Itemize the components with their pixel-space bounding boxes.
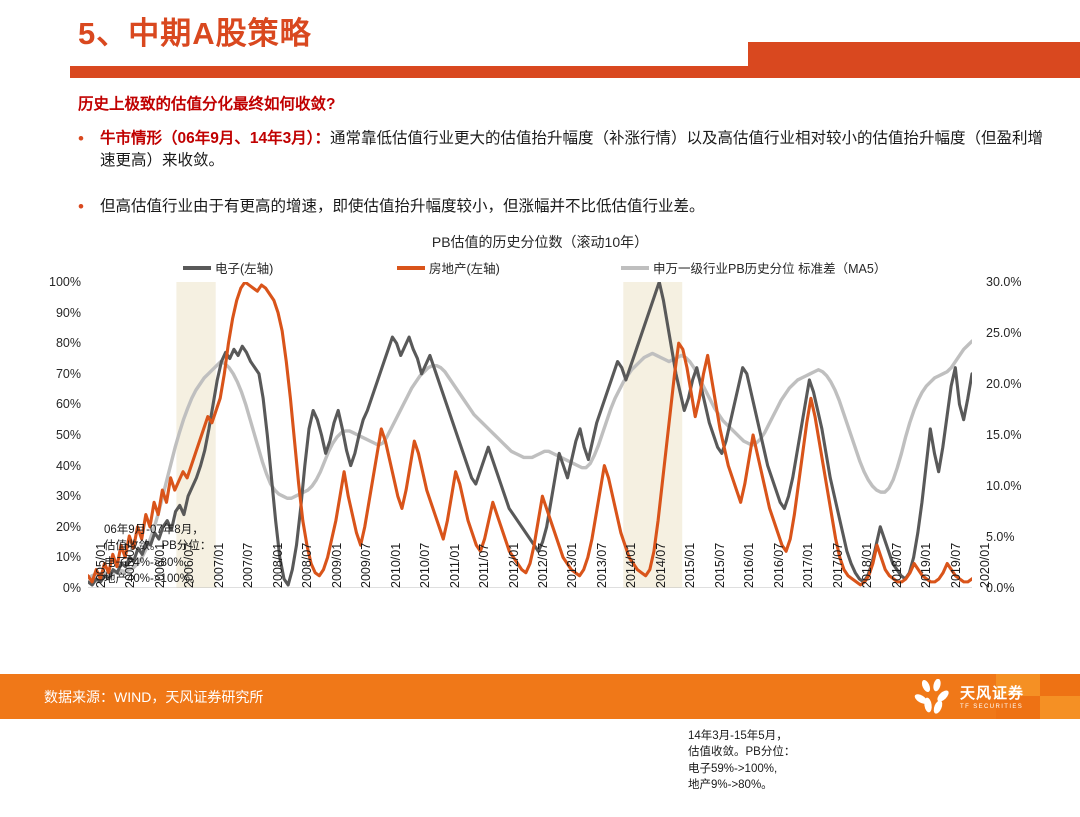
page-title: 5、中期A股策略 [78,8,312,53]
logo-block [1040,696,1080,719]
legend-label: 电子(左轴) [215,258,273,277]
x-axis-tick-label: 2013/01 [565,543,579,588]
company-logo: 天风证券 TF SECURITIES [900,674,1080,719]
y-axis-tick-left: 100% [21,275,88,289]
annotation-bull-2006: 06年9月-07年8月，估值收敛。PB分位：电子24%->80%,地产40%->… [104,522,211,587]
x-axis-tick-label: 2019/01 [919,543,933,588]
x-axis-tick-label: 2007/01 [212,543,226,588]
legend-swatch-icon [397,266,425,270]
x-axis-tick-label: 2015/07 [713,543,727,588]
y-axis-tick-left: 90% [21,306,88,320]
x-axis-tick-label: 2018/07 [890,543,904,588]
legend-item-realestate: 房地产(左轴) [397,258,500,277]
x-axis-tick-label: 2014/07 [654,543,668,588]
x-axis-tick: 2020/01 [978,588,1023,602]
logo-text: 天风证券 TF SECURITIES [960,682,1024,710]
x-axis-tick-label: 2009/01 [330,543,344,588]
y-axis-tick-right: 20.0% [972,377,1056,391]
x-axis-tick-label: 2014/01 [624,543,638,588]
annotation-line: 电子24%->80%, [104,555,211,571]
x-axis-tick-label: 2015/01 [683,543,697,588]
plot-area: 0%10%20%30%40%50%60%70%80%90%100% 0.0%5.… [88,282,972,817]
y-axis-tick-left: 70% [21,367,88,381]
y-axis-tick-left: 60% [21,397,88,411]
bullet-marker: • [78,196,100,219]
x-axis-tick-label: 2016/07 [772,543,786,588]
y-axis-tick-right: 10.0% [972,479,1056,493]
x-axis-tick-label: 2020/01 [978,543,992,588]
x-axis-tick-label: 2017/01 [801,543,815,588]
annotation-line: 估值收敛。PB分位： [688,744,795,760]
bullet-marker: • [78,128,100,172]
header-accent-bar [70,66,748,78]
legend-item-stddev: 申万一级行业PB历史分位 标准差（MA5） [621,258,886,277]
chart-legend: 电子(左轴) 房地产(左轴) 申万一级行业PB历史分位 标准差（MA5） [0,258,1080,278]
x-axis-tick-label: 2011/07 [477,544,491,588]
x-axis-tick-label: 2013/07 [595,543,609,588]
annotation-bull-2014: 14年3月-15年5月，估值收敛。PB分位：电子59%->100%,地产9%->… [688,728,795,793]
chart-series-line [88,282,972,585]
legend-swatch-icon [621,266,649,270]
x-axis-tick-label: 2017/07 [831,543,845,588]
y-axis-tick-left: 30% [21,489,88,503]
chart-container: PB估值的历史分位数（滚动10年） 电子(左轴) 房地产(左轴) 申万一级行业P… [0,232,1080,666]
annotation-line: 地产40%->100%。 [104,571,211,587]
logo-name-cn: 天风证券 [960,682,1024,703]
y-axis-tick-left: 40% [21,459,88,473]
legend-item-electronics: 电子(左轴) [183,258,273,277]
chart-title: PB估值的历史分位数（滚动10年） [0,232,1080,252]
legend-label: 申万一级行业PB历史分位 标准差（MA5） [653,258,886,277]
logo-block [1040,674,1080,696]
x-axis-tick-label: 2008/07 [300,543,314,588]
header-accent-block [748,42,1080,78]
y-axis-tick-right: 30.0% [972,275,1056,289]
annotation-line: 电子59%->100%, [688,761,795,777]
bullet-item: • 牛市情形（06年9月、14年3月）：通常靠低估值行业更大的估值抬升幅度（补涨… [78,128,1046,172]
y-axis-tick-right: 25.0% [972,326,1056,340]
bullet-text: 但高估值行业由于有更高的增速，即使估值抬升幅度较小，但涨幅并不比低估值行业差。 [100,196,1046,219]
y-axis-tick-left: 10% [21,550,88,564]
x-axis-tick-label: 2010/01 [389,543,403,588]
slide-header: 5、中期A股策略 [0,0,1080,90]
legend-label: 房地产(左轴) [429,258,500,277]
y-axis-tick-left: 0% [21,581,88,595]
bullet-body: 但高估值行业由于有更高的增速，即使估值抬升幅度较小，但涨幅并不比低估值行业差。 [100,198,705,215]
x-axis-tick-label: 2016/01 [742,543,756,588]
y-axis-tick-right: 15.0% [972,428,1056,442]
x-axis-tick-label: 2008/01 [271,543,285,588]
y-axis-tick-left: 20% [21,520,88,534]
slide-footer: 数据来源：WIND，天风证券研究所 天风证券 TF SECURITIES [0,674,1080,719]
x-axis-tick-label: 2007/07 [241,543,255,588]
x-axis-tick-label: 2009/07 [359,543,373,588]
annotation-line: 14年3月-15年5月， [688,728,795,744]
bullet-highlight: 牛市情形（06年9月、14年3月）： [100,130,330,147]
x-axis-tick-label: 2010/07 [418,543,432,588]
x-axis-tick-label: 2019/07 [949,543,963,588]
annotation-line: 地产9%->80%。 [688,777,795,793]
x-axis-tick-label: 2011/01 [448,544,462,588]
bullet-text: 牛市情形（06年9月、14年3月）：通常靠低估值行业更大的估值抬升幅度（补涨行情… [100,128,1046,172]
logo-name-en: TF SECURITIES [960,704,1024,710]
section-lead-question: 历史上极致的估值分化最终如何收敛? [78,92,335,114]
x-axis-tick-label: 2012/01 [507,543,521,588]
y-axis-tick-left: 50% [21,428,88,442]
annotation-line: 估值收敛。PB分位： [104,538,211,554]
bullet-item: • 但高估值行业由于有更高的增速，即使估值抬升幅度较小，但涨幅并不比低估值行业差… [78,196,1046,219]
logo-mark-icon [912,679,958,715]
x-axis-tick-label: 2018/01 [860,543,874,588]
legend-swatch-icon [183,266,211,270]
y-axis-tick-left: 80% [21,336,88,350]
x-axis-tick-label: 2012/07 [536,543,550,588]
data-source-label: 数据来源：WIND，天风证券研究所 [44,687,263,707]
annotation-line: 06年9月-07年8月， [104,522,211,538]
